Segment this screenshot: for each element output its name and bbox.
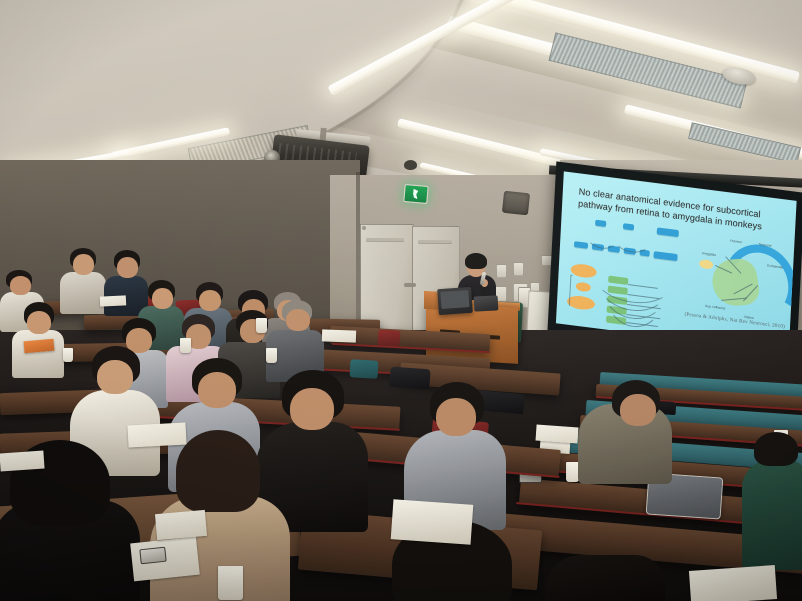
presenter-hair xyxy=(465,253,487,269)
brain-label: Pulvinar xyxy=(730,239,742,244)
paper-cup[interactable] xyxy=(218,566,243,600)
person-torso xyxy=(742,460,802,570)
paper-notes[interactable] xyxy=(155,510,207,540)
wall-speaker-icon xyxy=(502,191,530,216)
person-head xyxy=(436,398,476,436)
paper-notes[interactable] xyxy=(0,450,45,471)
paper-notes[interactable] xyxy=(127,422,186,447)
audience-member xyxy=(570,380,680,490)
person-head xyxy=(73,254,94,275)
audience-member xyxy=(742,440,802,570)
seat-back[interactable] xyxy=(378,329,401,346)
person-head xyxy=(97,360,133,394)
paper-cup[interactable] xyxy=(63,348,73,362)
brain-label: Amygdala xyxy=(702,251,716,257)
person-head xyxy=(286,309,310,331)
subcortical-node xyxy=(576,282,591,293)
person-hair xyxy=(754,432,798,466)
paper-notes[interactable] xyxy=(100,295,126,306)
paper-notes[interactable] xyxy=(689,565,777,601)
door-push-bar[interactable] xyxy=(366,238,404,241)
person-head xyxy=(27,311,51,334)
cortical-node xyxy=(574,241,588,249)
smartphone[interactable] xyxy=(139,547,166,565)
door-hinge xyxy=(362,226,366,230)
subcortical-node xyxy=(570,263,597,279)
slide-surface: No clear anatomical evidence for subcort… xyxy=(556,171,797,352)
cortical-node xyxy=(657,227,679,237)
ceiling-camera-icon xyxy=(404,160,417,170)
brain-label: Sup. colliculus xyxy=(705,304,725,311)
person-head xyxy=(290,388,334,430)
paper-notes[interactable] xyxy=(322,329,356,342)
paper-cup[interactable] xyxy=(180,338,191,353)
door-push-bar[interactable] xyxy=(418,240,452,243)
connectivity-diagram xyxy=(566,215,696,329)
wall-switch-plate[interactable] xyxy=(513,262,524,276)
audience-member xyxy=(12,302,64,370)
paper-notes[interactable] xyxy=(391,499,474,544)
paper-cup[interactable] xyxy=(256,318,267,333)
person-head xyxy=(198,372,236,408)
audience-member-foreground xyxy=(545,555,665,601)
podium-laptop[interactable] xyxy=(474,295,499,311)
paper-cup[interactable] xyxy=(266,348,277,363)
door-handle-icon[interactable] xyxy=(404,283,416,287)
person-torso xyxy=(12,330,64,378)
person-head xyxy=(10,276,31,295)
person-head xyxy=(620,394,656,426)
person-head xyxy=(152,288,173,309)
podium-monitor[interactable] xyxy=(437,287,473,315)
paper-notes[interactable] xyxy=(535,425,578,444)
emergency-exit-sign xyxy=(403,184,428,204)
person-torso xyxy=(60,272,106,314)
cortical-node xyxy=(653,251,677,261)
retina-icon xyxy=(699,259,713,270)
lecture-hall-photo: No clear anatomical evidence for subcort… xyxy=(0,0,802,601)
person-hair xyxy=(176,430,260,512)
person-torso xyxy=(545,555,665,601)
person-head xyxy=(199,290,221,311)
person-head xyxy=(117,257,138,278)
